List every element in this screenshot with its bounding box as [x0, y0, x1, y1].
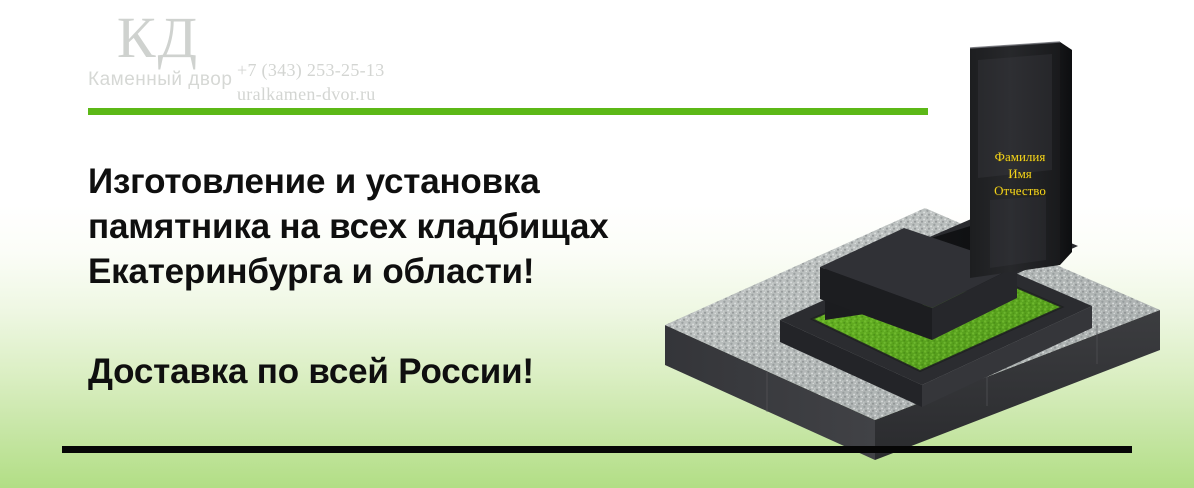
bottom-divider: [62, 446, 1132, 453]
contact-info: +7 (343) 253-25-13 uralkamen-dvor.ru: [237, 58, 385, 106]
logo-monogram: КД: [88, 8, 228, 67]
headline: Изготовление и установка памятника на вс…: [88, 160, 708, 294]
promo-banner: КД Каменный двор +7 (343) 253-25-13 ural…: [0, 0, 1194, 488]
monument-illustration: Фамилия Имя Отчество: [660, 20, 1180, 460]
phone-number[interactable]: +7 (343) 253-25-13: [237, 58, 385, 82]
headline-line-3: Екатеринбурга и области!: [88, 250, 708, 295]
brand-logo: КД Каменный двор: [88, 8, 228, 91]
headline-line-2: памятника на всех кладбищах: [88, 205, 708, 250]
website-url[interactable]: uralkamen-dvor.ru: [237, 82, 385, 106]
headline-line-1: Изготовление и установка: [88, 160, 708, 205]
logo-company-name: Каменный двор: [88, 69, 228, 91]
delivery-subline: Доставка по всей России!: [88, 352, 534, 392]
